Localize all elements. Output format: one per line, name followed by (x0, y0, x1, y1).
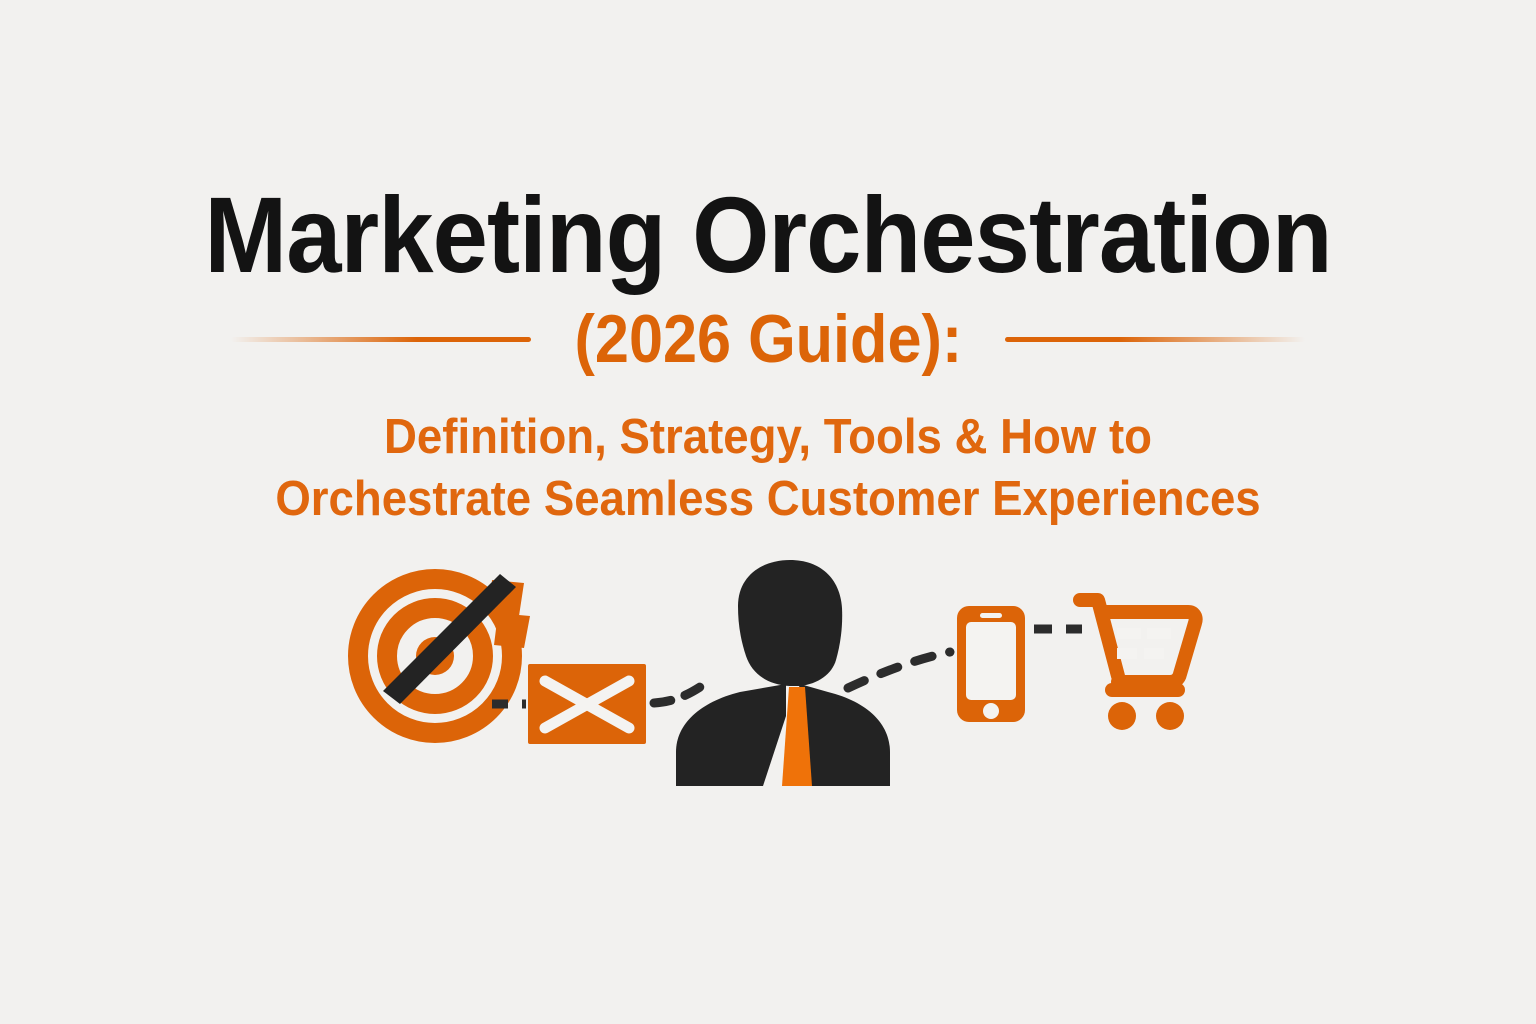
subtitle-block: Definition, Strategy, Tools & How to Orc… (0, 406, 1536, 530)
subtitle-line-2: Orchestrate Seamless Customer Experience… (54, 468, 1482, 530)
target-arrow-icon (358, 574, 530, 733)
smartphone-icon (957, 606, 1025, 722)
guide-label: (2026 Guide): (574, 305, 962, 373)
customer-silhouette-icon (676, 560, 890, 786)
subtitle-line-1: Definition, Strategy, Tools & How to (54, 406, 1482, 468)
title-block: Marketing Orchestration (0, 180, 1536, 290)
shopping-cart-icon (1080, 600, 1196, 730)
decorative-rule-right (1005, 337, 1305, 342)
poster-canvas: Marketing Orchestration (2026 Guide): De… (0, 0, 1536, 1024)
guide-label-row: (2026 Guide): (0, 305, 1536, 373)
envelope-icon (528, 664, 646, 744)
dashed-connector (848, 652, 950, 688)
customer-journey-illustration (0, 556, 1536, 816)
dashed-connector (654, 687, 700, 703)
decorative-rule-left (231, 337, 531, 342)
page-title: Marketing Orchestration (61, 180, 1474, 290)
